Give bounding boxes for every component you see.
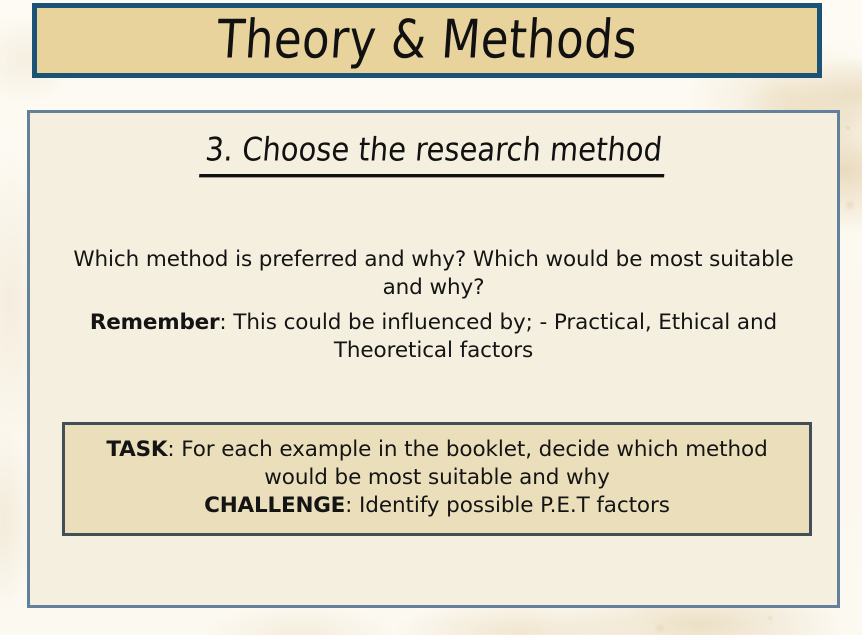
task-line: TASK: For each example in the booklet, d… [83, 436, 791, 491]
section-heading-wrap: 3. Choose the research method [52, 135, 815, 175]
slide-content-panel: 3. Choose the research method Which meth… [27, 110, 840, 608]
section-heading: 3. Choose the research method [199, 133, 668, 178]
task-body: : For each example in the booklet, decid… [167, 437, 767, 490]
remember-paragraph: Remember: This could be influenced by; -… [52, 309, 815, 364]
task-label: TASK [106, 437, 167, 462]
remember-label: Remember [90, 310, 220, 335]
slide-title-banner: Theory & Methods [32, 3, 822, 78]
task-callout-box: TASK: For each example in the booklet, d… [62, 422, 812, 536]
slide-title: Theory & Methods [215, 12, 639, 69]
presentation-slide: Theory & Methods 3. Choose the research … [0, 0, 862, 635]
question-paragraph: Which method is preferred and why? Which… [52, 246, 815, 301]
challenge-label: CHALLENGE [204, 493, 345, 518]
challenge-body: : Identify possible P.E.T factors [345, 493, 670, 518]
challenge-line: CHALLENGE: Identify possible P.E.T facto… [204, 492, 670, 520]
remember-body: : This could be influenced by; - Practic… [219, 310, 777, 363]
